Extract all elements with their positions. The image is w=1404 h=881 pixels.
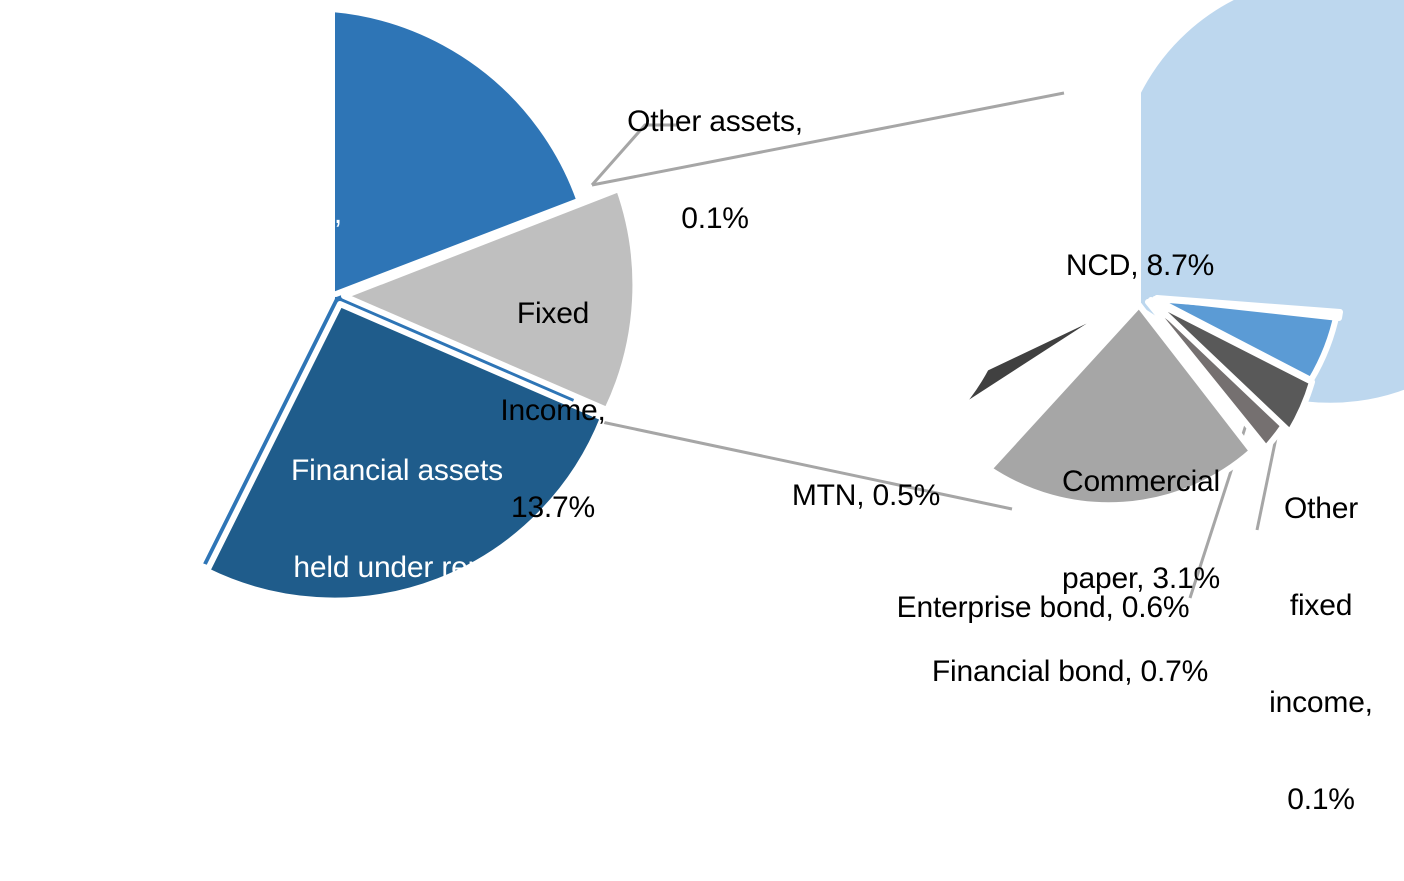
label-fixed-income-line1: Fixed xyxy=(473,298,633,330)
label-repo-line4: 25.9% xyxy=(262,746,532,778)
label-fixed-income-line3: 13.7% xyxy=(473,492,633,524)
label-financial-bond-text: Financial bond, 0.7% xyxy=(905,656,1235,688)
label-other-fixed-line1: Other xyxy=(1258,493,1384,525)
label-other-assets: Other assets, 0.1% xyxy=(600,41,830,300)
label-fixed-income-line2: Income, xyxy=(473,395,633,427)
label-other-fixed-line3: income, xyxy=(1258,687,1384,719)
label-commercial-paper-line1: Commercial xyxy=(1031,466,1251,498)
label-other-assets-line1: Other assets, xyxy=(600,106,830,138)
label-bank-deposits: Bank deposits, 60.3% xyxy=(120,133,370,392)
label-ncd: NCD, 8.7% xyxy=(1030,185,1250,347)
label-repo-line3: agreements, xyxy=(262,649,532,681)
label-other-fixed-line4: 0.1% xyxy=(1258,784,1384,816)
label-mtn-text: MTN, 0.5% xyxy=(771,480,961,512)
label-bank-deposits-line1: Bank deposits, xyxy=(120,198,370,230)
label-other-fixed-line2: fixed xyxy=(1258,590,1384,622)
label-ncd-text: NCD, 8.7% xyxy=(1030,250,1250,282)
label-other-assets-line2: 0.1% xyxy=(600,203,830,235)
pie-chart-figure: Bank deposits, 60.3% Financial assets he… xyxy=(0,0,1404,644)
label-financial-bond: Financial bond, 0.7% xyxy=(905,591,1235,753)
label-other-fixed-income: Other fixed income, 0.1% xyxy=(1258,428,1384,881)
label-bank-deposits-line2: 60.3% xyxy=(120,295,370,327)
